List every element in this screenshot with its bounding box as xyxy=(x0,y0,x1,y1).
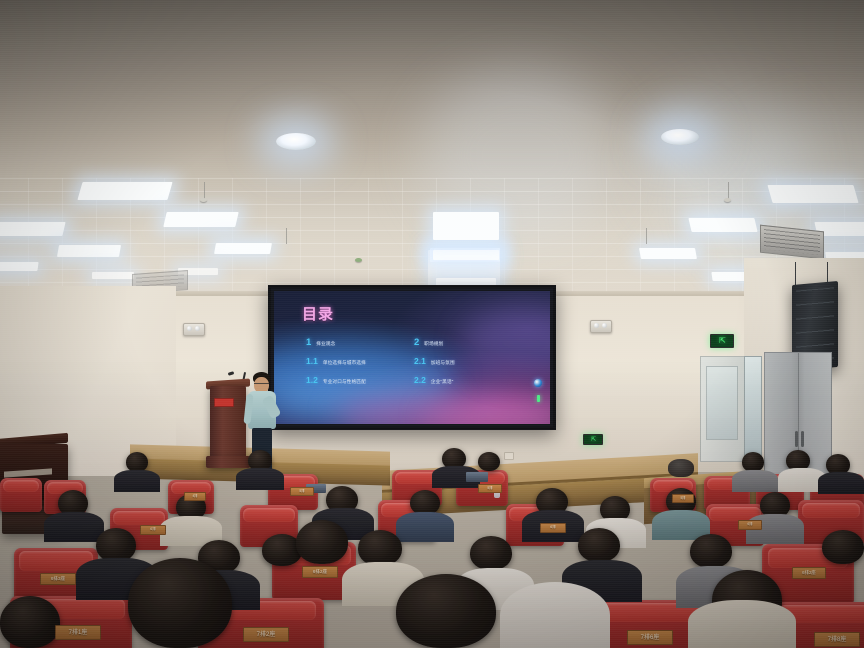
seat-number-plate: 4排 xyxy=(184,492,206,501)
toc-label: 择业观念 xyxy=(316,341,335,347)
exit-running-man-icon: ⇱ xyxy=(591,437,595,443)
seat-number-plate: 7排2座 xyxy=(243,627,289,642)
slide-title: 目录 xyxy=(302,303,334,324)
toc-item: 2 职场规划 xyxy=(414,337,522,346)
audience-head-foreground xyxy=(0,596,60,648)
seat-number-plate: 6排2座 xyxy=(302,566,338,578)
audience-head xyxy=(690,534,732,568)
toc-label: 加班与氛围 xyxy=(431,360,455,366)
ceiling-hanger xyxy=(286,228,287,244)
led-panel xyxy=(0,262,39,271)
seat-number-plate: 5排 xyxy=(672,494,694,503)
led-panel xyxy=(639,248,697,259)
smoke-detector xyxy=(200,198,207,202)
seat-number-plate: 6排3座 xyxy=(40,573,76,585)
audience-shoulders xyxy=(114,470,160,492)
slide-canvas: 目录 1 择业观念 1.1 单位选择与城市选择 1.2 专业对口与性格匹配 xyxy=(274,291,550,424)
audience-head xyxy=(470,536,512,570)
led-panel xyxy=(0,222,66,236)
smoke-detector xyxy=(724,198,731,202)
smoke-detector xyxy=(355,258,362,262)
seat-number-plate: 6排 xyxy=(738,520,762,530)
seat-number-plate: 6排2座 xyxy=(792,567,826,579)
seat-number-plate: 5排 xyxy=(290,487,314,496)
toc-column-left: 1 择业观念 1.1 单位选择与城市选择 1.2 专业对口与性格匹配 xyxy=(306,337,410,394)
seat[interactable] xyxy=(0,478,42,512)
audience-shoulders xyxy=(236,468,284,490)
audience-head xyxy=(126,452,148,472)
door-handle[interactable] xyxy=(801,431,804,447)
toc-number: 1 xyxy=(306,337,311,348)
toc-label: 职场规划 xyxy=(424,341,443,347)
wall-outlet xyxy=(504,452,514,460)
screen-power-indicator-icon[interactable] xyxy=(534,379,542,387)
seat-number-plate: 7排6座 xyxy=(627,630,673,645)
seat-number-plate: 7排8座 xyxy=(814,632,860,647)
audience-head-foreground xyxy=(396,574,496,648)
toc-label: 企业“黑话” xyxy=(431,379,454,385)
exit-sign-center: ⇱ xyxy=(710,334,734,348)
toc-number: 2 xyxy=(414,337,419,348)
audience-head xyxy=(822,530,864,564)
led-panel xyxy=(163,212,238,227)
led-panel xyxy=(57,245,121,257)
backpack-on-table xyxy=(668,459,694,477)
lecture-hall-photo: 目录 1 择业观念 1.1 单位选择与城市选择 1.2 专业对口与性格匹配 xyxy=(0,0,864,648)
toc-item: 1.1 单位选择与城市选择 xyxy=(306,356,410,365)
seat-number-plate: 6排 xyxy=(140,525,166,535)
toc-item: 2.2 企业“黑话” xyxy=(414,375,522,384)
toc-label: 单位选择与城市选择 xyxy=(323,360,366,366)
led-panel xyxy=(92,272,134,279)
emergency-light-right xyxy=(590,320,612,333)
round-ceiling-light-left xyxy=(276,133,316,150)
audience-head-foreground xyxy=(296,520,348,564)
led-panel xyxy=(77,182,172,200)
audience-shoulders xyxy=(732,470,778,492)
toc-number: 1.2 xyxy=(306,375,318,385)
led-panel xyxy=(214,243,272,254)
speaker-hanging-wire xyxy=(827,262,828,284)
audience-head xyxy=(96,528,136,562)
audience-shoulders xyxy=(396,512,454,542)
exit-sign-stage: ⇱ xyxy=(583,434,603,445)
audience-shoulders xyxy=(44,512,104,542)
screen-status-led-icon xyxy=(537,395,540,402)
toc-number: 2.1 xyxy=(414,356,426,366)
seat-number-plate: 7排1座 xyxy=(55,625,101,640)
audience-head xyxy=(478,452,500,471)
toc-label: 专业对口与性格匹配 xyxy=(323,379,366,385)
laptop-on-desk[interactable] xyxy=(466,472,488,482)
audience-shoulders xyxy=(818,472,864,494)
led-panel xyxy=(433,250,499,260)
toc-column-right: 2 职场规划 2.1 加班与氛围 2.2 企业“黑话” xyxy=(414,337,522,394)
toc-number: 1.1 xyxy=(306,356,318,366)
presenter-glasses xyxy=(254,383,269,386)
seat-number-plate: 6排 xyxy=(540,523,566,533)
speaker-hanging-wire xyxy=(795,262,796,286)
ceiling-hanger xyxy=(646,228,647,244)
audience-head xyxy=(358,530,402,566)
emergency-light-left xyxy=(183,323,205,336)
toc-item: 1.2 专业对口与性格匹配 xyxy=(306,375,410,384)
door-handle[interactable] xyxy=(795,431,798,447)
seat-number-plate: 5排 xyxy=(478,484,502,493)
audience-head xyxy=(742,452,764,472)
round-ceiling-light-right xyxy=(661,129,699,145)
toc-item: 1 择业观念 xyxy=(306,337,410,346)
audience-shoulders-foreground xyxy=(500,582,610,648)
led-panel xyxy=(433,212,499,240)
toc-item: 2.1 加班与氛围 xyxy=(414,356,522,365)
corridor-window xyxy=(706,366,738,440)
exit-running-man-icon: ⇱ xyxy=(719,337,725,345)
toc-number: 2.2 xyxy=(414,375,426,385)
projection-screen[interactable]: 目录 1 择业观念 1.1 单位选择与城市选择 1.2 专业对口与性格匹配 xyxy=(268,285,556,430)
led-panel xyxy=(767,185,858,203)
led-panel xyxy=(688,218,757,232)
corridor-window xyxy=(744,356,762,456)
audience-shoulders-foreground xyxy=(688,600,796,648)
audience-head xyxy=(578,528,620,562)
audience-head-foreground xyxy=(128,558,232,648)
podium-name-plate xyxy=(214,398,234,407)
